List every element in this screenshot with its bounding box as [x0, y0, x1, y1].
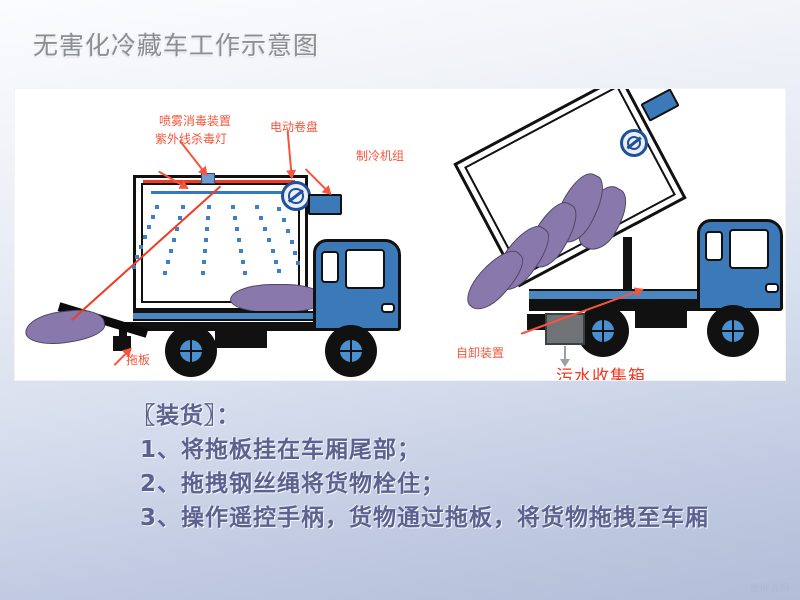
body-step-2: 2、拖拽钢丝绳将货物栓住； — [132, 467, 792, 501]
label-drag-plate: 拖板 — [126, 354, 150, 367]
label-electric-reel: 电动卷盘 — [270, 121, 318, 134]
refrigeration-unit-right — [640, 89, 679, 122]
body-text-block: 〖装货〗： 1、将拖板挂在车厢尾部； 2、拖拽钢丝绳将货物栓住； 3、操作遥控手… — [132, 399, 792, 535]
wheel-hub-rear-right — [590, 318, 616, 344]
label-refrigeration-unit: 制冷机组 — [356, 150, 404, 163]
watermark-text: 图例说明 — [750, 581, 790, 594]
label-self-unloading: 自卸装置 — [456, 347, 504, 360]
chassis-rail — [133, 311, 313, 321]
cab-side-window — [321, 251, 339, 283]
wheel-hub-front — [338, 338, 364, 364]
waste-box-pointer-arrow — [564, 346, 566, 360]
body-step-1: 1、将拖板挂在车厢尾部； — [132, 433, 792, 467]
fuel-tank — [215, 330, 267, 348]
fuel-tank-right — [635, 310, 687, 328]
chassis-frame-right — [529, 301, 721, 311]
refrigeration-unit — [308, 194, 342, 215]
electric-reel-icon-right — [620, 129, 648, 157]
electric-reel-icon — [281, 181, 311, 211]
wheel-hub-rear — [178, 338, 204, 364]
label-waste-water-box: 污水收集箱 — [556, 371, 646, 380]
right-truck-group — [435, 89, 785, 380]
cab-step — [381, 303, 395, 313]
cab-step-right — [765, 283, 779, 293]
body-heading: 〖装货〗： — [132, 399, 792, 433]
carcass-inside-box — [230, 284, 324, 313]
label-spray-disinfection: 喷雾消毒装置 — [159, 115, 231, 128]
label-uv-lamp: 紫外线杀毒灯 — [155, 133, 227, 146]
body-step-3: 3、操作遥控手柄，货物通过拖板，将货物拖拽至车厢 — [132, 501, 792, 535]
diagram-image-panel[interactable]: 喷雾消毒装置 紫外线杀毒灯 电动卷盘 制冷机组 拖板 自卸装置 污水收集箱 — [15, 89, 785, 380]
slide-canvas: 无害化冷藏车工作示意图 — [0, 0, 800, 600]
hydraulic-lift — [623, 237, 632, 295]
page-title: 无害化冷藏车工作示意图 — [33, 26, 319, 62]
wheel-hub-front-right — [720, 318, 746, 344]
cab-side-window-right — [705, 231, 723, 261]
cab-windshield — [345, 249, 385, 289]
cab-windshield-right — [729, 229, 769, 269]
